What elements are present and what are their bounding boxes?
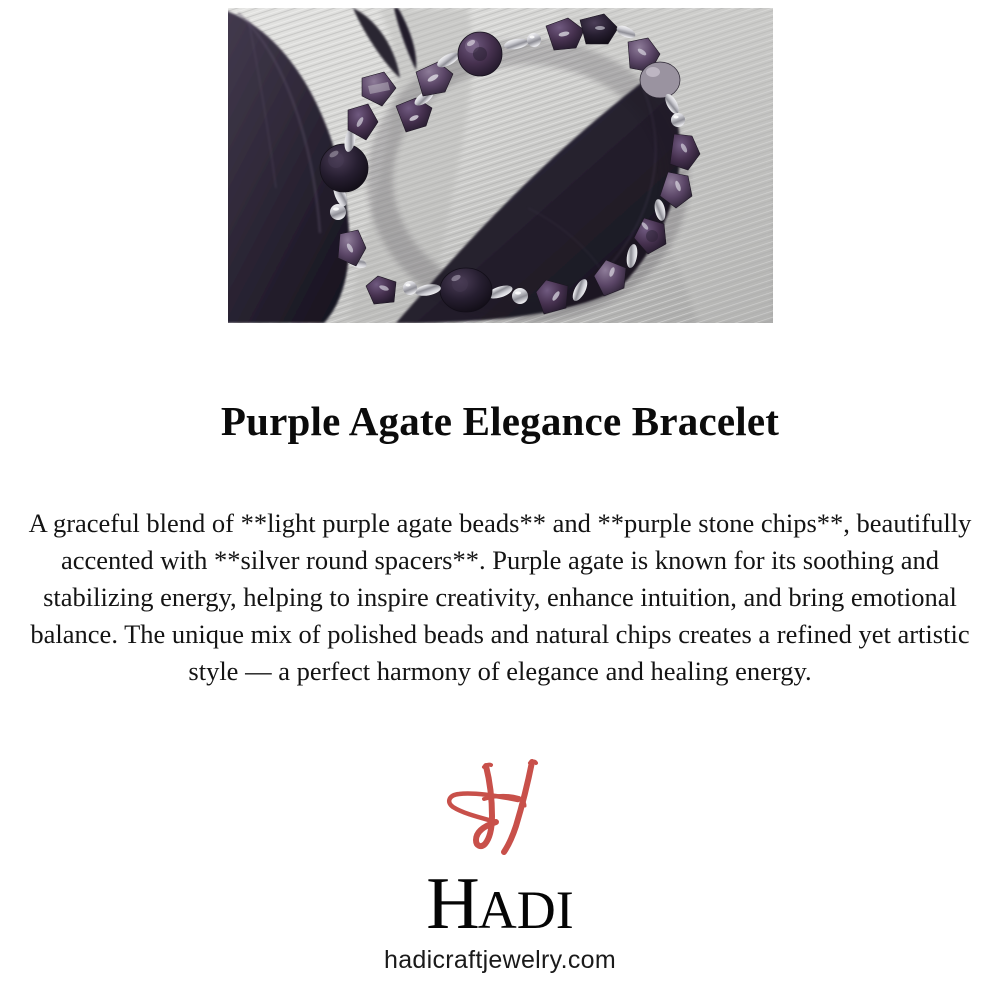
product-photo-image xyxy=(228,8,773,323)
product-description: A graceful blend of **light purple agate… xyxy=(22,505,978,690)
hadi-monogram-icon xyxy=(440,752,560,860)
product-photo xyxy=(228,8,773,323)
page-title: Purple Agate Elegance Bracelet xyxy=(0,397,1000,445)
product-card: Purple Agate Elegance Bracelet A gracefu… xyxy=(0,0,1000,1000)
brand-block: HADI hadicraftjewelry.com xyxy=(0,752,1000,975)
hadi-wordmark: HADI xyxy=(370,862,630,940)
brand-website-url[interactable]: hadicraftjewelry.com xyxy=(0,946,1000,975)
svg-text:HADI: HADI xyxy=(426,863,573,940)
